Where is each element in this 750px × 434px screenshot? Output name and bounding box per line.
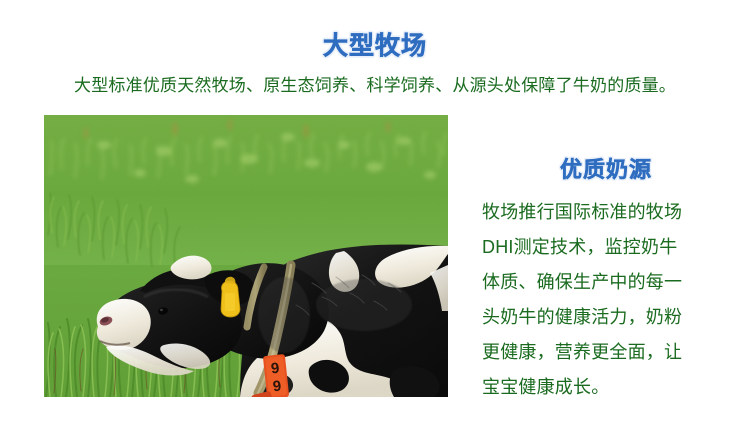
page-subtitle: 大型标准优质天然牧场、原生态饲养、科学饲养、从源头处保障了牛奶的质量。	[0, 74, 750, 98]
page-title: 大型牧场	[0, 31, 750, 61]
promo-banner: 大型牧场 大型标准优质天然牧场、原生态饲养、科学饲养、从源头处保障了牛奶的质量。	[0, 0, 750, 434]
side-panel-title: 优质奶源	[470, 155, 742, 185]
cow-photo-illustration: 9 9	[44, 115, 448, 397]
photo-grain	[44, 115, 448, 397]
side-panel: 优质奶源 牧场推行国际标准的牧场 DHI测定技术，监控奶牛 体质、确保生产中的每…	[470, 155, 742, 405]
pasture-photo: 9 9	[44, 115, 448, 397]
side-panel-paragraph: 牧场推行国际标准的牧场 DHI测定技术，监控奶牛 体质、确保生产中的每一 头奶牛…	[470, 195, 742, 405]
